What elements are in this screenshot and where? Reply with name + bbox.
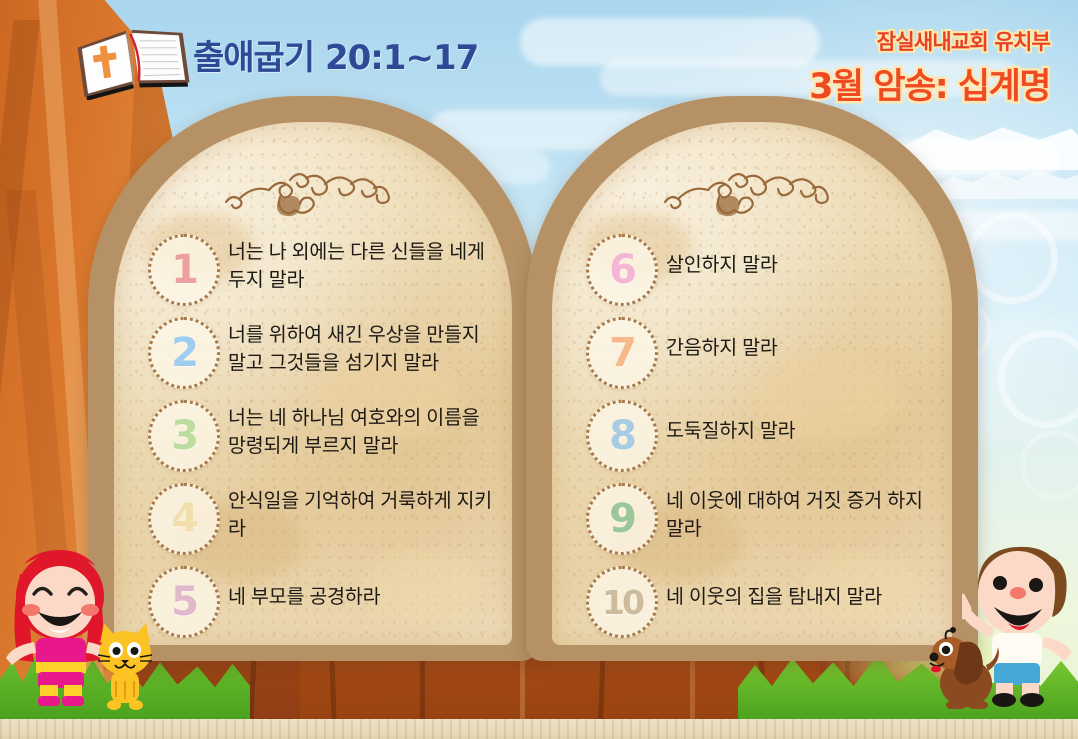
commandment-number: 7: [609, 333, 635, 373]
commandment-number: 3: [171, 416, 197, 456]
stone-tablets: 1너는 나 외에는 다른 신들을 네게 두지 말라2너를 위하여 새긴 우상을 …: [88, 96, 978, 661]
dog-character: [920, 617, 1000, 709]
commandment-text: 너는 네 하나님 여호와의 이름을 망령되게 부르지 말라: [228, 400, 498, 461]
commandment-text: 안식일을 기억하여 거룩하게 지키라: [228, 483, 498, 544]
commandment-number: 5: [171, 582, 197, 622]
floor-texture: [0, 719, 1078, 739]
commandment-number-badge: 3: [148, 400, 220, 472]
commandment-list-right: 6살인하지 말라7간음하지 말라8도둑질하지 말라9네 이웃에 대하여 거짓 증…: [586, 234, 938, 645]
open-bible-icon: [72, 22, 194, 100]
commandment-number: 1: [171, 250, 197, 290]
tablet-right: 6살인하지 말라7간음하지 말라8도둑질하지 말라9네 이웃에 대하여 거짓 증…: [526, 96, 978, 661]
commandment-row: 2너를 위하여 새긴 우상을 만들지 말고 그것들을 섬기지 말라: [148, 317, 498, 389]
commandment-number: 2: [171, 333, 197, 373]
bokeh-circle: [966, 212, 1058, 304]
commandment-row: 6살인하지 말라: [586, 234, 938, 306]
church-label: 잠실새내교회 유치부: [809, 26, 1050, 56]
vine-flourish-ornament: [657, 162, 847, 220]
commandment-number-badge: 6: [586, 234, 658, 306]
commandment-number: 6: [609, 250, 635, 290]
commandment-number-badge: 4: [148, 483, 220, 555]
commandment-row: 3너는 네 하나님 여호와의 이름을 망령되게 부르지 말라: [148, 400, 498, 472]
tablet-left-face: 1너는 나 외에는 다른 신들을 네게 두지 말라2너를 위하여 새긴 우상을 …: [114, 122, 512, 645]
commandment-text: 간음하지 말라: [666, 317, 938, 362]
commandment-number: 10: [602, 586, 642, 619]
commandment-number: 8: [609, 416, 635, 456]
commandment-text: 살인하지 말라: [666, 234, 938, 279]
commandment-row: 5네 부모를 공경하라: [148, 566, 498, 638]
poster-canvas: 1너는 나 외에는 다른 신들을 네게 두지 말라2너를 위하여 새긴 우상을 …: [0, 0, 1078, 739]
commandment-list-left: 1너는 나 외에는 다른 신들을 네게 두지 말라2너를 위하여 새긴 우상을 …: [148, 234, 498, 645]
commandment-text: 네 이웃의 집을 탐내지 말라: [666, 566, 938, 611]
commandment-number: 9: [609, 499, 635, 539]
commandment-row: 9네 이웃에 대하여 거짓 증거 하지 말라: [586, 483, 938, 555]
commandment-number-badge: 5: [148, 566, 220, 638]
commandment-number-badge: 2: [148, 317, 220, 389]
commandment-text: 네 이웃에 대하여 거짓 증거 하지 말라: [666, 483, 938, 544]
commandment-number-badge: 1: [148, 234, 220, 306]
commandment-number-badge: 9: [586, 483, 658, 555]
tablet-left: 1너는 나 외에는 다른 신들을 네게 두지 말라2너를 위하여 새긴 우상을 …: [88, 96, 538, 661]
commandment-number-badge: 10: [586, 566, 658, 638]
commandment-text: 도둑질하지 말라: [666, 400, 938, 445]
commandment-row: 1너는 나 외에는 다른 신들을 네게 두지 말라: [148, 234, 498, 306]
cat-character: [92, 621, 158, 711]
page-title: 출애굽기 20:1~17: [193, 30, 478, 79]
commandment-number-badge: 7: [586, 317, 658, 389]
cloud-shape: [520, 18, 820, 66]
commandment-text: 네 부모를 공경하라: [228, 566, 498, 611]
commandment-text: 너는 나 외에는 다른 신들을 네게 두지 말라: [228, 234, 498, 295]
tablet-right-face: 6살인하지 말라7간음하지 말라8도둑질하지 말라9네 이웃에 대하여 거짓 증…: [552, 122, 952, 645]
commandment-number-badge: 8: [586, 400, 658, 472]
header-right-block: 잠실새내교회 유치부 3월 암송: 십계명: [809, 26, 1050, 109]
vine-flourish-ornament: [218, 162, 408, 220]
commandment-row: 10네 이웃의 집을 탐내지 말라: [586, 566, 938, 638]
month-title: 3월 암송: 십계명: [809, 58, 1050, 109]
commandment-row: 4안식일을 기억하여 거룩하게 지키라: [148, 483, 498, 555]
commandment-text: 너를 위하여 새긴 우상을 만들지 말고 그것들을 섬기지 말라: [228, 317, 498, 378]
commandment-row: 7간음하지 말라: [586, 317, 938, 389]
commandment-number: 4: [171, 499, 197, 539]
commandment-row: 8도둑질하지 말라: [586, 400, 938, 472]
